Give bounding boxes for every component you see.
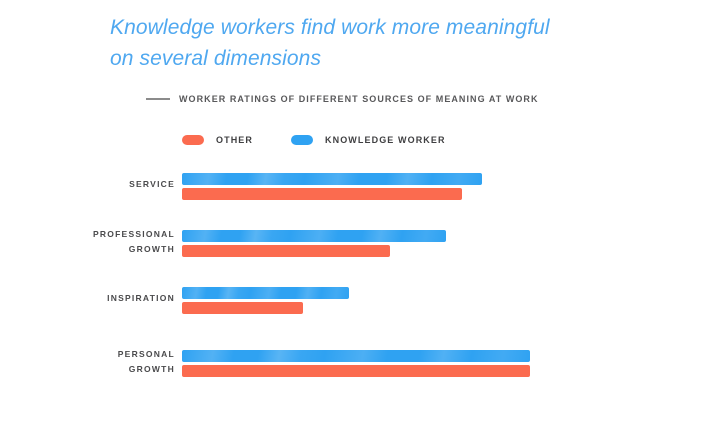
category-label-line: GROWTH bbox=[0, 362, 175, 377]
bar-pair bbox=[182, 225, 720, 259]
bar-group-service: SERVICE bbox=[0, 168, 720, 202]
chart-canvas: Knowledge workers find work more meaning… bbox=[0, 0, 720, 424]
bar-other-professional-growth[interactable] bbox=[182, 245, 390, 257]
page-title: Knowledge workers find work more meaning… bbox=[110, 12, 630, 74]
bar-knowledge-worker-inspiration[interactable] bbox=[182, 287, 349, 299]
legend-swatch-icon bbox=[182, 135, 204, 145]
category-label-line: INSPIRATION bbox=[0, 291, 175, 306]
legend-swatch-icon bbox=[291, 135, 313, 145]
bar-other-personal-growth[interactable] bbox=[182, 365, 530, 377]
legend-item-knowledge-worker[interactable]: KNOWLEDGE WORKER bbox=[291, 135, 446, 145]
bar-knowledge-worker-personal-growth[interactable] bbox=[182, 350, 530, 362]
category-label-line: PROFESSIONAL bbox=[0, 227, 175, 242]
bar-other-service[interactable] bbox=[182, 188, 462, 200]
horizontal-rule-icon bbox=[146, 98, 170, 100]
bar-knowledge-worker-professional-growth[interactable] bbox=[182, 230, 446, 242]
legend-item-label: OTHER bbox=[216, 135, 253, 145]
legend-item-other[interactable]: OTHER bbox=[182, 135, 253, 145]
category-label-service: SERVICE bbox=[0, 168, 175, 192]
bar-pair bbox=[182, 282, 720, 316]
category-label-professional-growth: PROFESSIONAL GROWTH bbox=[0, 225, 175, 257]
category-label-inspiration: INSPIRATION bbox=[0, 282, 175, 306]
category-label-personal-growth: PERSONAL GROWTH bbox=[0, 345, 175, 377]
chart-subtitle: WORKER RATINGS OF DIFFERENT SOURCES OF M… bbox=[146, 94, 539, 104]
legend-item-label: KNOWLEDGE WORKER bbox=[325, 135, 446, 145]
plot-area: SERVICE PROFESSIONAL GROWTH INSPIRATION bbox=[0, 168, 720, 393]
page-title-line-1: Knowledge workers find work more meaning… bbox=[110, 12, 630, 43]
bar-pair bbox=[182, 168, 720, 202]
category-label-line: PERSONAL bbox=[0, 347, 175, 362]
chart-subtitle-label: WORKER RATINGS OF DIFFERENT SOURCES OF M… bbox=[179, 94, 539, 104]
bar-group-inspiration: INSPIRATION bbox=[0, 282, 720, 316]
bar-knowledge-worker-service[interactable] bbox=[182, 173, 482, 185]
category-label-line: SERVICE bbox=[0, 177, 175, 192]
bar-pair bbox=[182, 345, 720, 379]
chart-legend: OTHER KNOWLEDGE WORKER bbox=[182, 135, 484, 145]
bar-group-professional-growth: PROFESSIONAL GROWTH bbox=[0, 225, 720, 259]
category-label-line: GROWTH bbox=[0, 242, 175, 257]
bar-group-personal-growth: PERSONAL GROWTH bbox=[0, 345, 720, 379]
bar-other-inspiration[interactable] bbox=[182, 302, 303, 314]
page-title-line-2: on several dimensions bbox=[110, 43, 630, 74]
